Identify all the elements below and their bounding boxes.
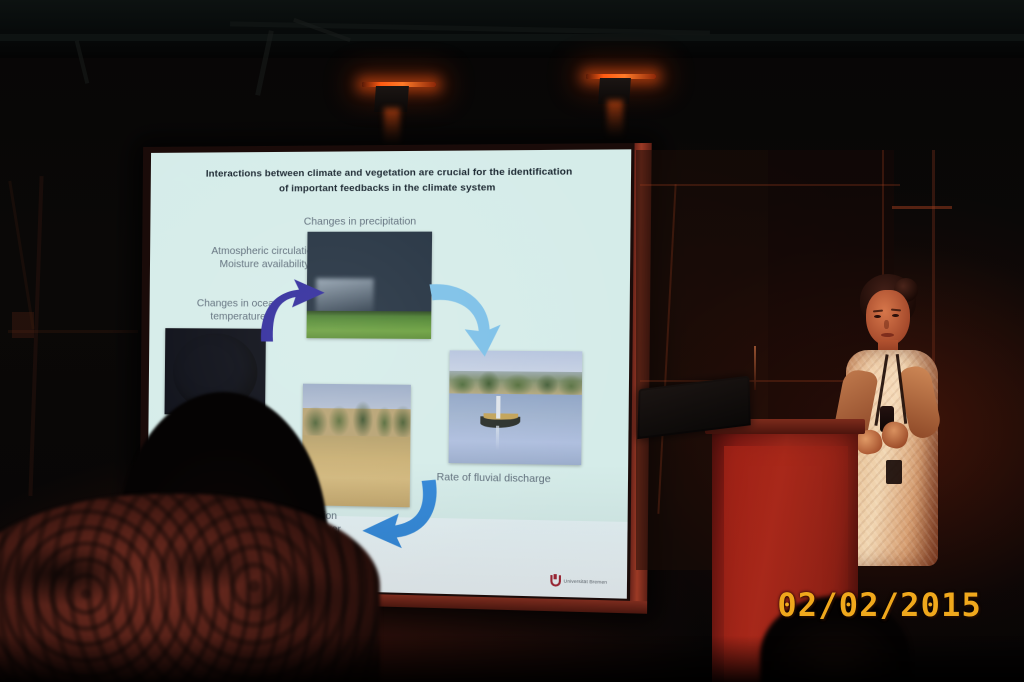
presenter-nose [884,320,889,329]
stage-rigging-crossbar [892,206,952,209]
savanna-trees [303,399,411,439]
label-rate-of-fluvial-discharge: Rate of fluvial discharge [437,471,551,486]
presenter-eyebrow-left [873,309,883,312]
presenter-name-badge [886,460,902,484]
universitaet-bremen-logo: Universität Bremen [550,576,607,589]
presenter-eye-left [874,315,881,318]
slide-title: Interactions between climate and vegetat… [178,165,601,197]
label-changes-in-precipitation: Changes in precipitation [304,215,417,229]
foreground-shadow-gradient [0,636,1024,682]
arrow-ocean-to-precipitation-icon [242,270,328,345]
river-boat-photo [449,350,582,465]
stage-light-right-glow [607,100,623,138]
stage-light-left-glow [384,108,400,146]
presenter-mouth [881,333,894,337]
stage-light-left [362,82,436,146]
bremen-key-icon [550,576,561,588]
microphone-stand-short [754,346,756,390]
boat-interior [483,413,517,419]
presenter-eyebrow-right [891,309,901,312]
universitaet-bremen-logo-text: Universität Bremen [564,579,608,585]
river-far-bank-trees [450,371,582,395]
arrow-precipitation-to-river-icon [426,279,504,359]
river-water [449,393,582,465]
slide-title-line-1: Interactions between climate and vegetat… [179,165,602,183]
ceiling-beam-horizontal [0,34,1024,41]
boatman-reflection [496,425,499,450]
stage-light-right [586,74,656,138]
backdrop-seam-horizontal-upper [640,184,900,186]
camera-date-timestamp: 02/02/2015 [777,586,982,624]
arrow-river-to-vegetation-icon [359,477,446,554]
presenter-eye-right [892,314,899,317]
presenter-face [866,290,910,346]
boatman-figure [497,396,501,419]
slide-title-line-2: of important feedbacks in the climate sy… [178,180,601,197]
photograph-canvas: Interactions between climate and vegetat… [0,0,1024,682]
